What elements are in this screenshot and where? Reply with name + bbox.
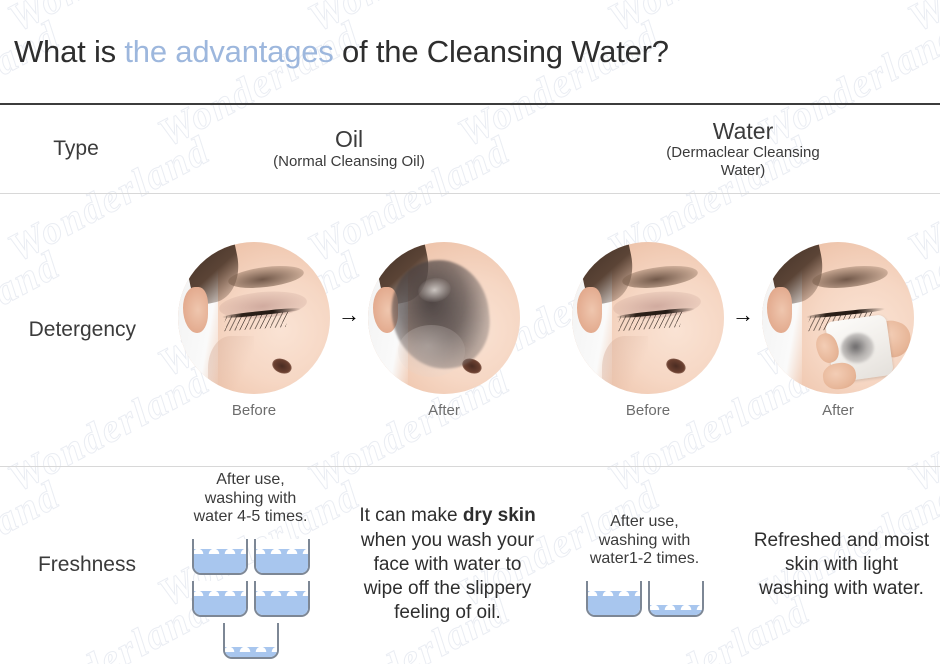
water-after-photo	[762, 242, 914, 394]
oil-before-photo-wrap: Before	[178, 242, 330, 419]
ear	[767, 287, 793, 333]
row-label-detergency: Detergency	[0, 194, 152, 466]
water-basin-icon	[192, 581, 248, 617]
water-fill	[225, 647, 277, 657]
water-fill	[194, 549, 246, 573]
type-row: Type Oil (Normal Cleansing Oil) Water (D…	[0, 105, 940, 193]
water-before-photo	[572, 242, 724, 394]
title-tail: of the Cleansing Water?	[334, 34, 669, 69]
water-basin-icon	[223, 623, 279, 659]
water-freshness-text-cell: Refreshed and moist skin with light wash…	[743, 529, 940, 602]
freshness-row-cells: After use, washing with water 4-5 times.…	[152, 467, 940, 663]
water-before-photo-wrap: Before	[572, 242, 724, 419]
cheek-shading	[208, 336, 254, 394]
water-after-caption: After	[822, 402, 854, 419]
title-highlight: the advantages	[124, 34, 333, 69]
oil-after-photo	[368, 242, 520, 394]
title-lead: What is	[14, 34, 124, 69]
water-freshness-paragraph: Refreshed and moist skin with light wash…	[753, 529, 930, 602]
water-freshness-basins-cell: After use, washing with water1-2 times.	[546, 513, 743, 618]
water-basin-icon	[648, 581, 704, 617]
freshness-row: Freshness After use, washing with water …	[0, 467, 940, 663]
cheek-shading	[602, 336, 648, 394]
water-basin-icon	[586, 581, 642, 617]
oil-after-caption: After	[428, 402, 460, 419]
detergency-row-cells: Before → After	[152, 194, 940, 466]
oil-after-photo-wrap: After	[368, 242, 520, 419]
ear	[183, 287, 209, 333]
water-before-caption: Before	[626, 402, 670, 419]
ear	[577, 287, 603, 333]
oil-before-photo	[178, 242, 330, 394]
row-label-freshness: Freshness	[0, 467, 152, 663]
detergency-row: Detergency	[0, 194, 940, 466]
smeared-makeup-lower	[398, 325, 465, 377]
oil-paragraph-bold: dry skin	[463, 505, 536, 526]
water-freshness-note: After use, washing with water1-2 times.	[590, 513, 699, 570]
water-photo-pair: Before →	[546, 242, 940, 419]
column-header-water-name: Water	[713, 119, 774, 145]
title-bar: What is the advantages of the Cleansing …	[0, 0, 940, 103]
arrow-right-icon: →	[332, 304, 366, 326]
row-label-type: Type	[0, 105, 152, 193]
water-fill	[256, 549, 308, 573]
type-row-cells: Oil (Normal Cleansing Oil) Water (Dermac…	[152, 105, 940, 193]
oil-photo-pair: Before → After	[152, 242, 546, 419]
water-basin-icon	[254, 539, 310, 575]
oil-freshness-basins-cell: After use, washing with water 4-5 times.	[152, 471, 349, 660]
page-title: What is the advantages of the Cleansing …	[14, 34, 669, 70]
column-header-water-subtitle: (Dermaclear Cleansing Water)	[643, 144, 843, 179]
water-basin-group	[586, 581, 704, 617]
water-basin-icon	[254, 581, 310, 617]
water-fill	[650, 605, 702, 615]
oil-paragraph-after: when you wash your face with water to wi…	[361, 530, 534, 624]
column-header-oil-name: Oil	[335, 127, 363, 153]
oil-before-caption: Before	[232, 402, 276, 419]
column-header-water: Water (Dermaclear Cleansing Water)	[546, 105, 940, 193]
water-fill	[256, 591, 308, 615]
arrow-right-icon: →	[726, 304, 760, 326]
column-header-oil: Oil (Normal Cleansing Oil)	[152, 105, 546, 193]
oil-water-basin-group	[162, 539, 339, 659]
oil-freshness-paragraph: It can make dry skin when you wash your …	[359, 504, 536, 626]
oil-freshness-text-cell: It can make dry skin when you wash your …	[349, 504, 546, 626]
water-fill	[588, 591, 640, 615]
oil-paragraph-before: It can make	[359, 505, 463, 526]
column-header-oil-subtitle: (Normal Cleansing Oil)	[273, 153, 425, 170]
oil-freshness-note: After use, washing with water 4-5 times.	[194, 471, 308, 528]
water-after-photo-wrap: After	[762, 242, 914, 419]
infographic-page: What is the advantages of the Cleansing …	[0, 0, 940, 664]
water-basin-icon	[192, 539, 248, 575]
water-fill	[194, 591, 246, 615]
